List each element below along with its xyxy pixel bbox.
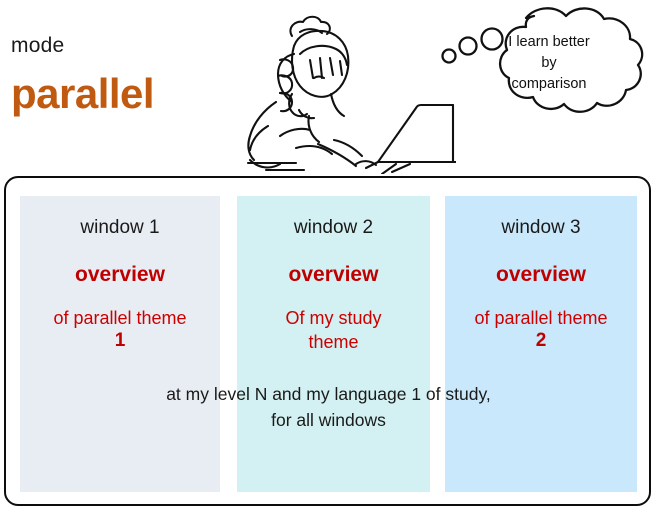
window-panel-2-overview-label: overview — [237, 264, 430, 285]
window-panel-2[interactable]: window 2 overview Of my study theme — [237, 196, 430, 492]
window-panel-2-subtitle: Of my study theme — [237, 306, 430, 354]
window-panel-1-overview-label: overview — [20, 264, 220, 285]
person-thinking-at-laptop-illustration — [196, 0, 456, 174]
window-panel-3[interactable]: window 3 overview of parallel theme 2 — [445, 196, 637, 492]
thought-bubble-text: I learn better by comparison — [463, 32, 635, 95]
header: mode parallel — [0, 0, 656, 172]
window-panel-2-title: window 2 — [237, 218, 430, 237]
window-panel-1-number: 1 — [20, 331, 220, 350]
window-panel-1-title: window 1 — [20, 218, 220, 237]
window-panel-3-title: window 3 — [445, 218, 637, 237]
window-panel-3-overview-label: overview — [445, 264, 637, 285]
window-panel-3-number: 2 — [445, 331, 637, 350]
window-panel-1-subtitle: of parallel theme — [20, 306, 220, 330]
page-mode-label: mode — [11, 35, 64, 56]
window-panel-1[interactable]: window 1 overview of parallel theme 1 — [20, 196, 220, 492]
panels-row: window 1 overview of parallel theme 1 wi… — [20, 196, 637, 492]
window-panel-3-subtitle: of parallel theme — [445, 306, 637, 330]
page-title: parallel — [11, 73, 154, 115]
